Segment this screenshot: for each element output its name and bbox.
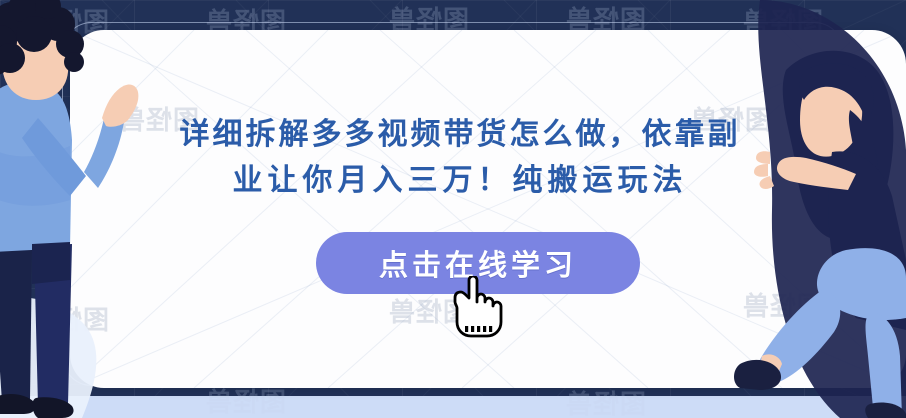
- illustration-woman-seated: [700, 0, 906, 418]
- pointing-hand-cursor-icon: [447, 276, 503, 340]
- promo-banner: 图怪兽图怪兽图怪兽图怪兽图怪兽图怪兽图怪兽 图怪兽图怪兽图怪兽图怪兽图怪兽: [0, 0, 906, 418]
- banner-title: 详细拆解多多视频带货怎么做，依靠副 业让你月入三万！纯搬运玩法: [150, 112, 770, 204]
- title-line-2: 业让你月入三万！纯搬运玩法: [150, 158, 770, 204]
- title-line-1: 详细拆解多多视频带货怎么做，依靠副: [150, 112, 770, 158]
- illustration-man-pointing: [0, 0, 196, 418]
